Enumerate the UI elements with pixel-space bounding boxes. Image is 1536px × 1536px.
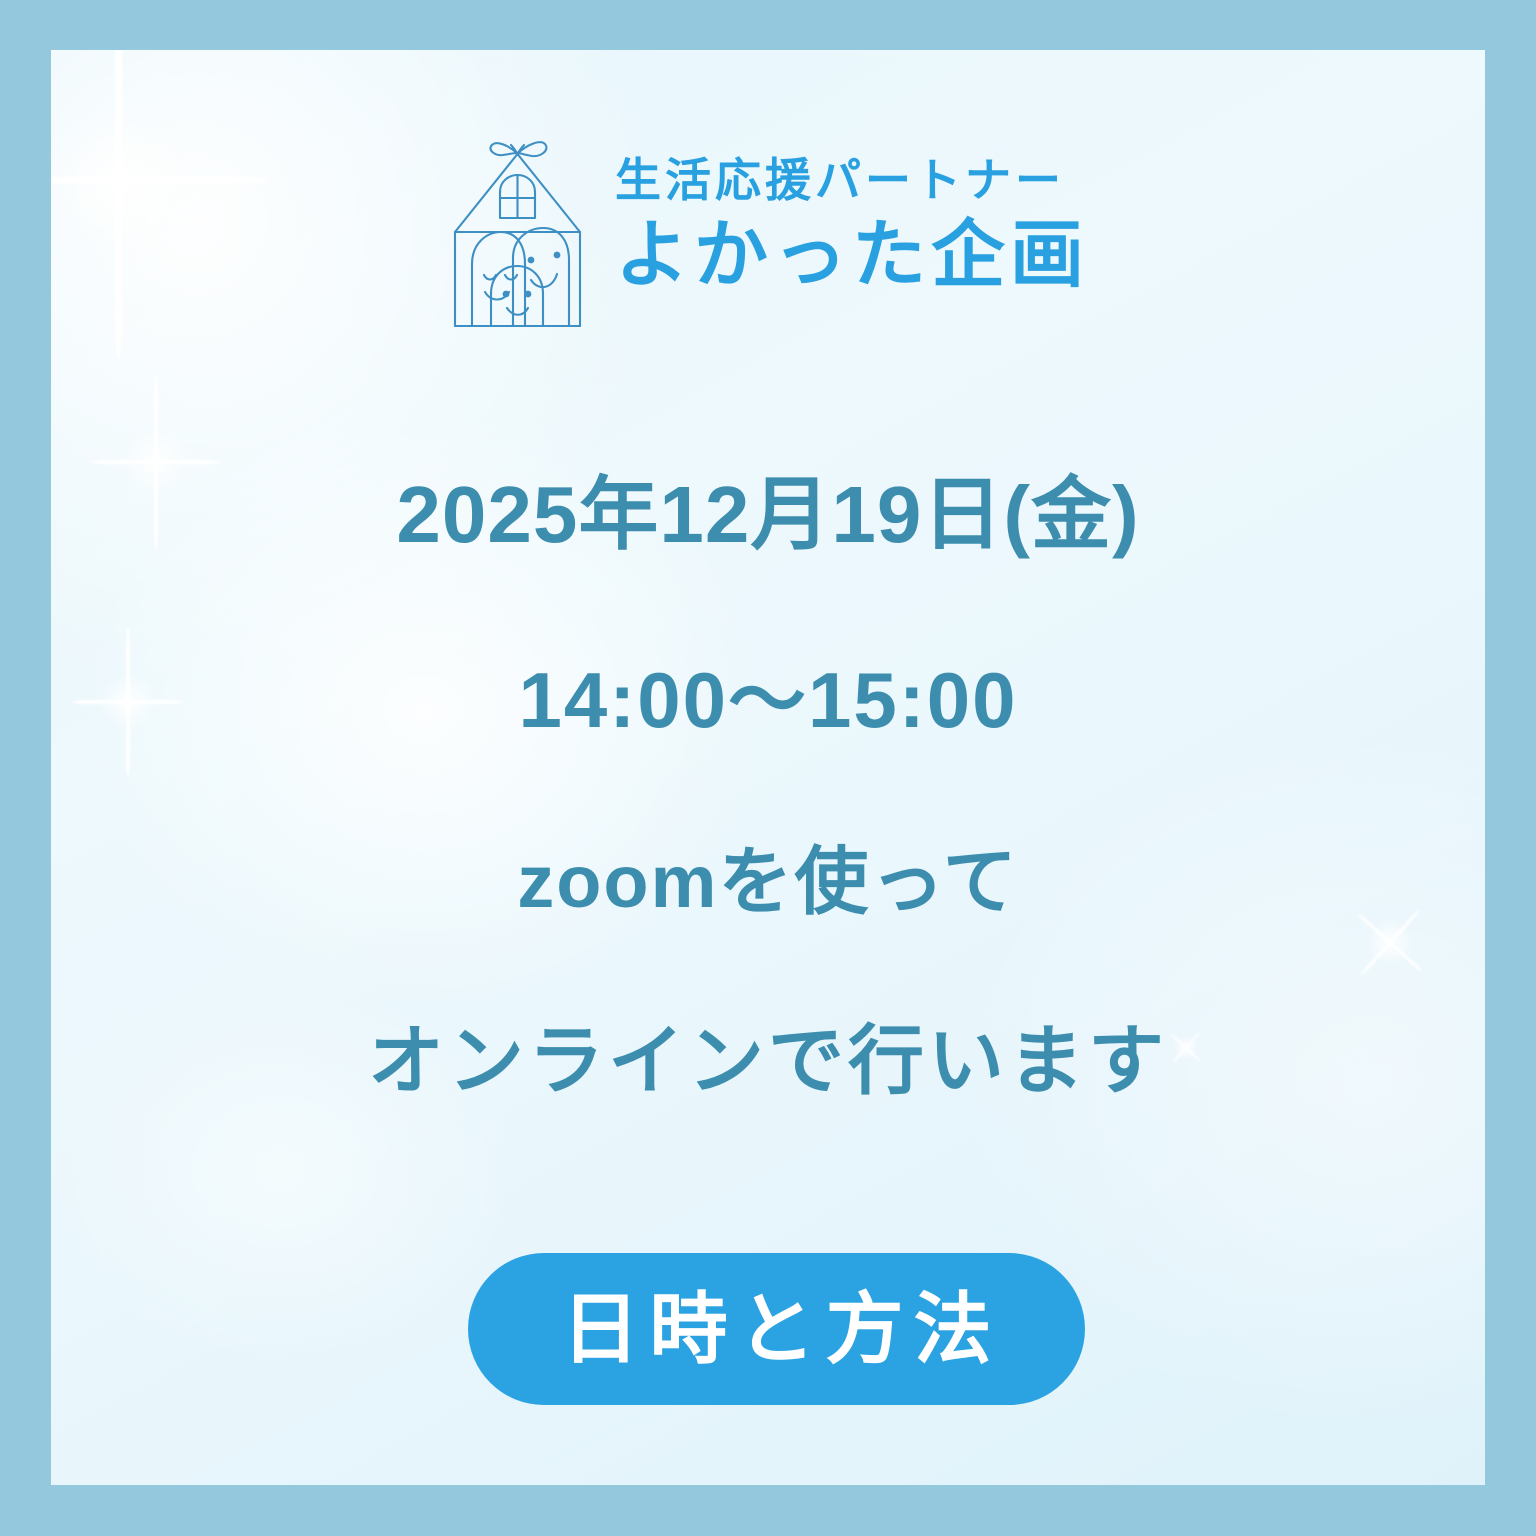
event-platform-line: zoomを使って [517, 822, 1019, 929]
datetime-and-method-button[interactable]: 日時と方法 [468, 1253, 1085, 1405]
brand-tagline: 生活応援パートナー [615, 155, 1065, 207]
brand-logo-text: 生活応援パートナー よかった企画 [615, 155, 1089, 297]
event-format-line: オンラインで行います [368, 999, 1168, 1109]
event-date-line: 2025年12月19日(金) [396, 450, 1139, 566]
brand-name: よかった企画 [615, 214, 1089, 297]
inner-panel: 生活応援パートナー よかった企画 2025年12月19日(金) 14:00〜15… [51, 50, 1485, 1485]
poster-canvas: 生活応援パートナー よかった企画 2025年12月19日(金) 14:00〜15… [0, 0, 1536, 1536]
house-with-family-icon [447, 112, 589, 340]
datetime-and-method-button-label: 日時と方法 [551, 1290, 1001, 1368]
brand-logo-lockup: 生活応援パートナー よかった企画 [51, 112, 1485, 340]
event-time-line: 14:00〜15:00 [519, 638, 1018, 750]
event-details-block: 2025年12月19日(金) 14:00〜15:00 zoomを使って オンライ… [51, 450, 1485, 1109]
